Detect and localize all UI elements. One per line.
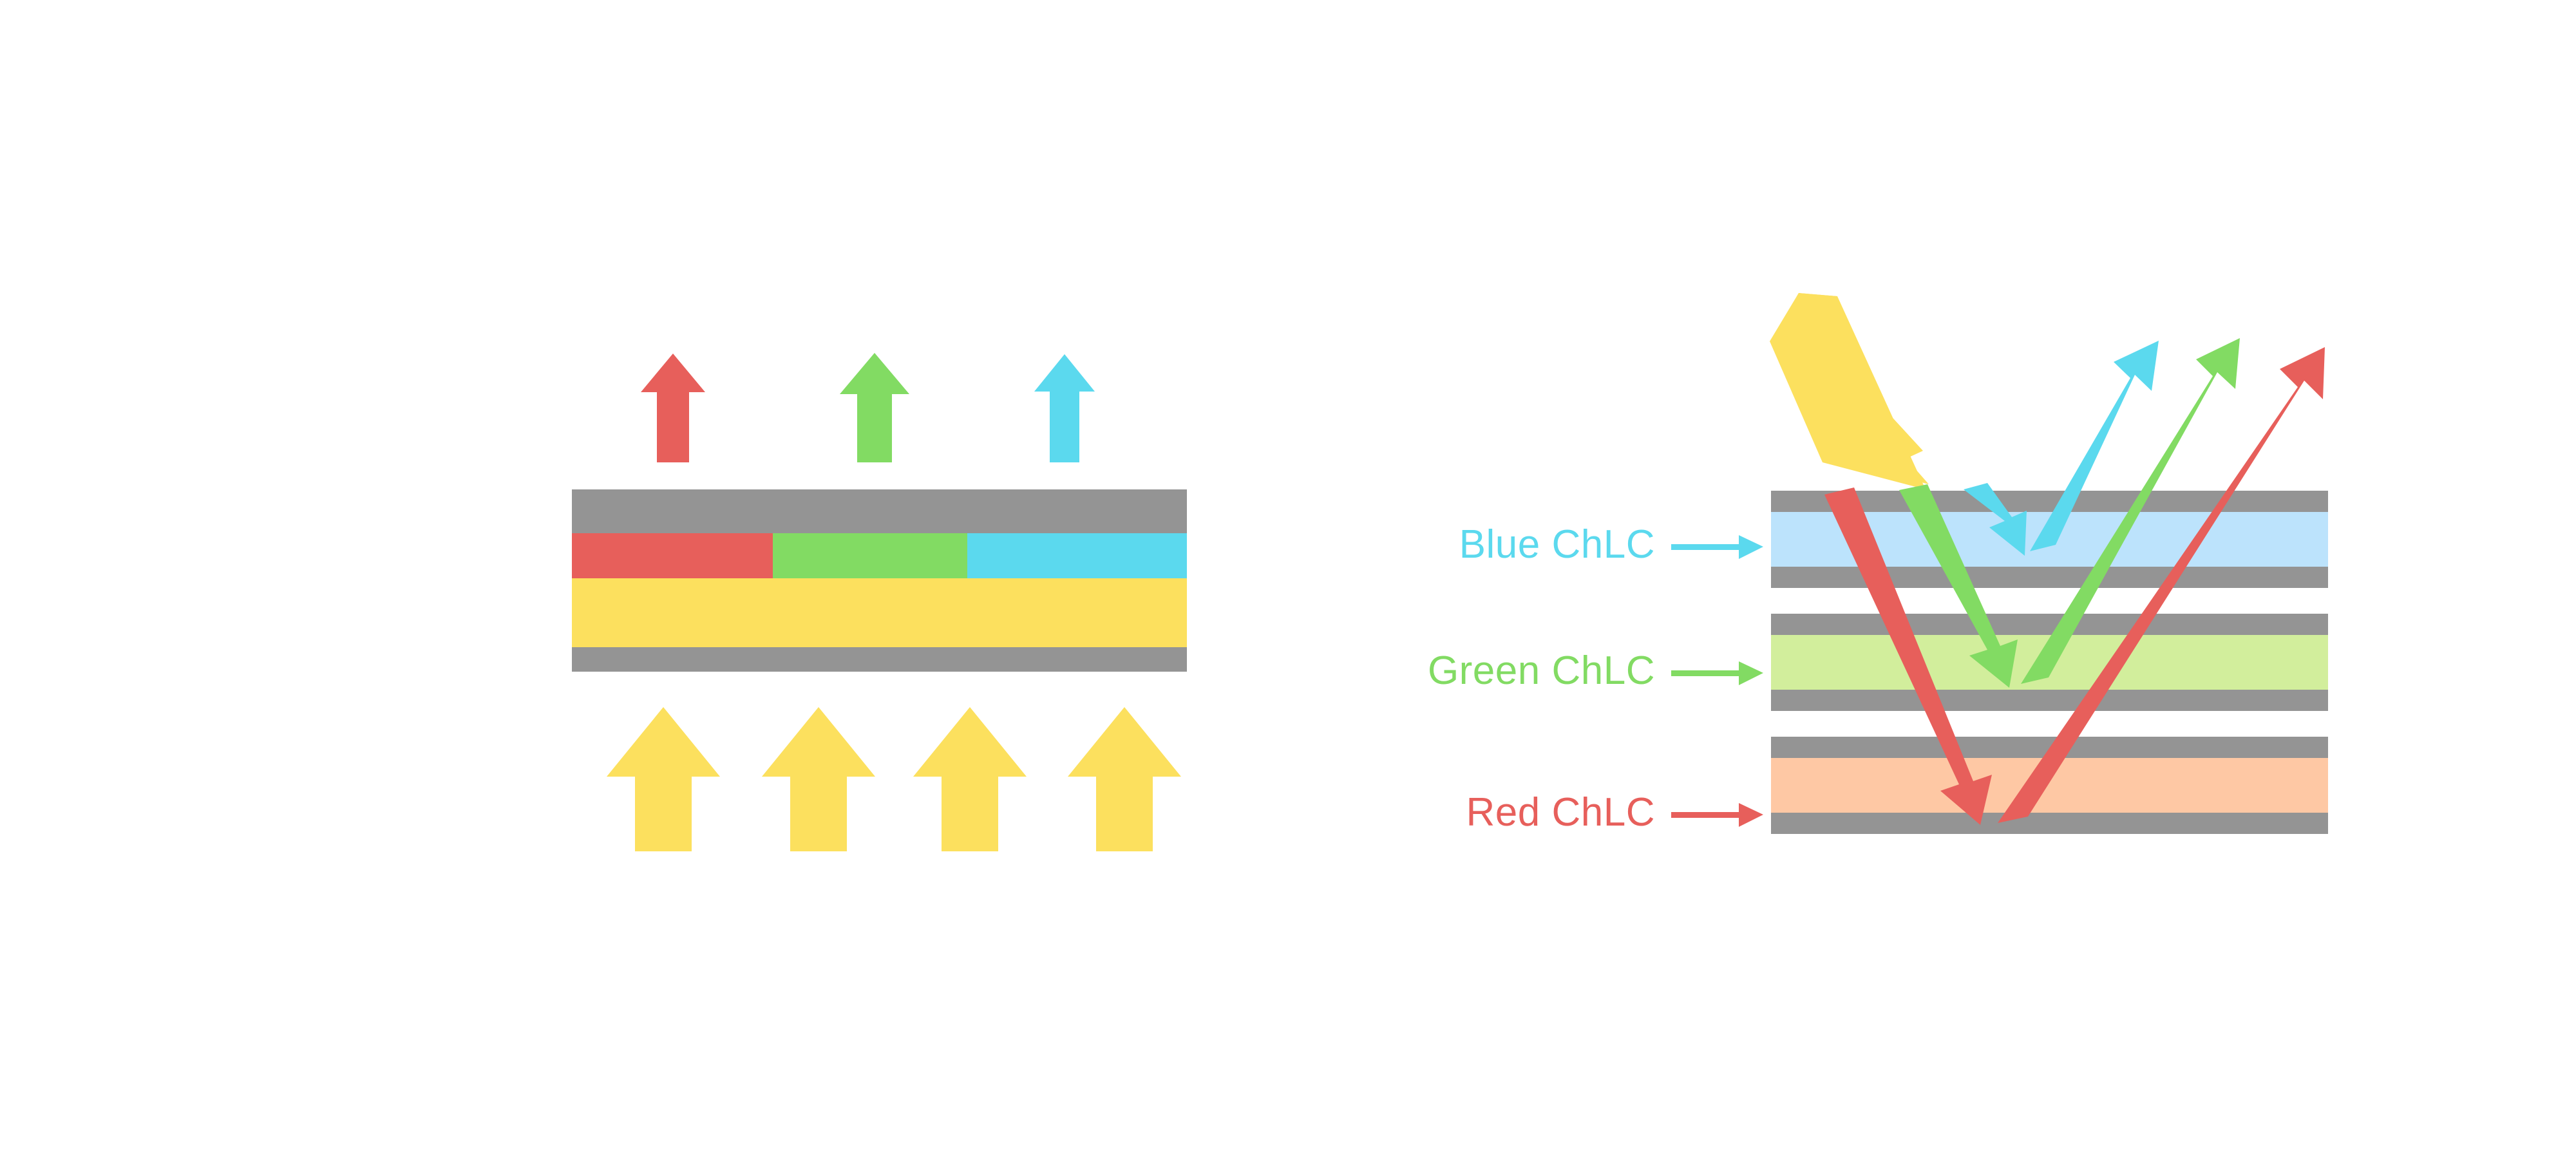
- backlight-arrow: [607, 707, 720, 851]
- green-filter-segment: [773, 533, 967, 578]
- backlight-arrow: [913, 707, 1027, 851]
- blue-chlc-label-text: Blue ChLC: [1430, 525, 1655, 565]
- emitted-cyan-arrow: [1034, 354, 1095, 462]
- backlight-layer: [572, 578, 1187, 647]
- ambient-white-light-arrow: [1770, 293, 1929, 489]
- blue-chlc-bottom-gray: [1771, 567, 2328, 588]
- red-chlc-label-text: Red ChLC: [1436, 793, 1655, 833]
- green-chlc-label-text: Green ChLC: [1391, 651, 1655, 691]
- blue-chlc-pointer-arrow: [1671, 535, 1763, 559]
- backlight-arrow: [1068, 707, 1181, 851]
- red-filter-segment: [572, 533, 773, 578]
- green-chlc-top-gray: [1771, 614, 2328, 635]
- green-chlc-pointer-arrow: [1671, 661, 1763, 685]
- red-chlc-pointer-arrow: [1671, 803, 1763, 827]
- emitted-red-arrow: [641, 354, 705, 462]
- right-diagram: [1671, 293, 2328, 834]
- red-chlc-bottom-gray: [1771, 813, 2328, 834]
- diagram-artwork: [0, 0, 2576, 1154]
- left-diagram: [572, 353, 1187, 851]
- bottom-gray-substrate: [572, 647, 1187, 672]
- backlight-arrow-group: [607, 707, 1181, 851]
- green-chlc-bottom-gray: [1771, 690, 2328, 711]
- top-gray-substrate: [572, 489, 1187, 533]
- cyan-filter-segment: [967, 533, 1187, 578]
- figure-canvas: Blue ChLC Green ChLC Red ChLC: [0, 0, 2576, 1154]
- emitted-green-arrow: [840, 353, 909, 462]
- backlight-arrow: [762, 707, 875, 851]
